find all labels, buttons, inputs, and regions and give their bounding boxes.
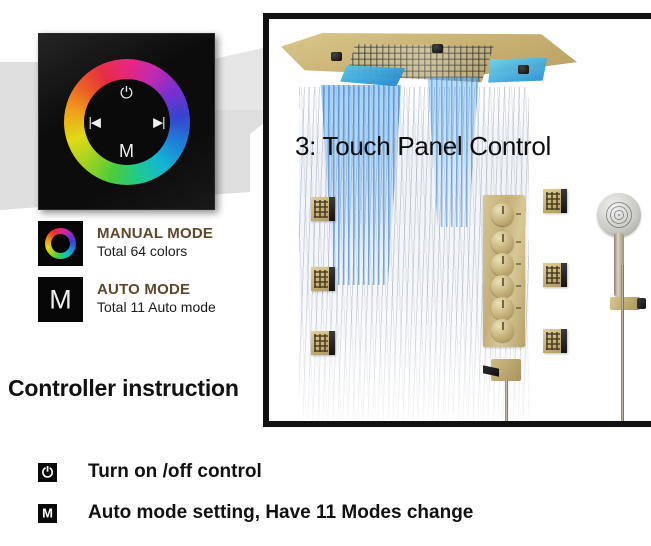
hand-shower-slide-bar bbox=[621, 265, 624, 427]
mixer-mark-4 bbox=[516, 285, 521, 287]
thermostatic-mixer-valve bbox=[483, 195, 525, 347]
legend-row-auto: M AUTO MODE Total 11 Auto mode bbox=[38, 277, 253, 322]
instruction-row-mode: M Auto mode setting, Have 11 Modes chang… bbox=[38, 502, 638, 524]
body-jet-left-1 bbox=[311, 197, 335, 221]
mixer-knob-6 bbox=[491, 319, 514, 342]
next-icon[interactable]: ▶| bbox=[153, 115, 164, 128]
legend-title-manual: MANUAL MODE bbox=[97, 225, 213, 242]
previous-icon[interactable]: |◀ bbox=[89, 115, 100, 128]
power-icon-glyph: ⏻ bbox=[38, 465, 57, 479]
mixer-knob-3 bbox=[491, 253, 514, 276]
page-title: Controller instruction bbox=[8, 375, 239, 402]
legend-subtitle-manual: Total 64 colors bbox=[97, 243, 213, 261]
mixer-knob-5 bbox=[491, 297, 514, 320]
mixer-mark-5 bbox=[516, 307, 521, 309]
ceiling-bolt-1 bbox=[331, 52, 342, 61]
legend-text-auto: AUTO MODE Total 11 Auto mode bbox=[97, 277, 216, 317]
instruction-text-power: Turn on /off control bbox=[88, 461, 262, 483]
page-root: ⏻ |◀ ▶| M MANUAL MODE Total 64 colors M … bbox=[0, 0, 651, 546]
mode-m-icon-glyph: M bbox=[38, 507, 57, 520]
mixer-mark-2 bbox=[516, 241, 521, 243]
body-jet-left-3 bbox=[311, 331, 335, 355]
body-jet-right-1 bbox=[543, 189, 567, 213]
body-jet-right-2 bbox=[543, 263, 567, 287]
instruction-text-mode: Auto mode setting, Have 11 Modes change bbox=[88, 502, 473, 524]
hand-shower-head bbox=[597, 193, 641, 237]
hand-shower-holder bbox=[610, 297, 640, 310]
body-jet-right-3 bbox=[543, 329, 567, 353]
legend-text-manual: MANUAL MODE Total 64 colors bbox=[97, 221, 213, 261]
led-waterfall-left bbox=[340, 65, 405, 86]
mode-m-icon[interactable]: M bbox=[119, 142, 134, 160]
mixer-mark-1 bbox=[516, 213, 521, 215]
legend-title-auto: AUTO MODE bbox=[97, 281, 216, 298]
legend-row-manual: MANUAL MODE Total 64 colors bbox=[38, 221, 253, 266]
mixer-knob-2 bbox=[491, 231, 514, 254]
power-icon[interactable]: ⏻ bbox=[120, 86, 133, 102]
mixer-knob-1 bbox=[491, 203, 514, 226]
auto-mode-m-glyph: M bbox=[38, 286, 83, 313]
tub-spout bbox=[491, 359, 521, 381]
power-icon: ⏻ bbox=[38, 463, 57, 482]
ceiling-bolt-2 bbox=[432, 44, 443, 53]
product-photo-frame: 3: Touch Panel Control bbox=[263, 13, 651, 427]
instruction-list: ⏻ Turn on /off control M Auto mode setti… bbox=[38, 461, 638, 543]
ceiling-bolt-3 bbox=[518, 65, 529, 74]
panel-glyph-group: ⏻ |◀ ▶| M bbox=[84, 79, 170, 165]
auto-mode-m-icon: M bbox=[38, 277, 83, 322]
color-wheel-ring-small bbox=[45, 228, 76, 259]
mixer-knob-4 bbox=[491, 275, 514, 298]
mixer-mark-3 bbox=[516, 263, 521, 265]
instruction-row-power: ⏻ Turn on /off control bbox=[38, 461, 638, 483]
color-wheel-icon bbox=[38, 221, 83, 266]
spout-supply-pipe bbox=[505, 379, 508, 427]
led-ceiling-shower-set-photo: 3: Touch Panel Control bbox=[269, 19, 651, 421]
mode-m-icon: M bbox=[38, 504, 57, 523]
rgb-touch-panel[interactable]: ⏻ |◀ ▶| M bbox=[38, 33, 215, 210]
photo-caption: 3: Touch Panel Control bbox=[295, 131, 551, 162]
body-jet-left-2 bbox=[311, 267, 335, 291]
legend-subtitle-auto: Total 11 Auto mode bbox=[97, 299, 216, 317]
mode-legend: MANUAL MODE Total 64 colors M AUTO MODE … bbox=[38, 221, 253, 333]
